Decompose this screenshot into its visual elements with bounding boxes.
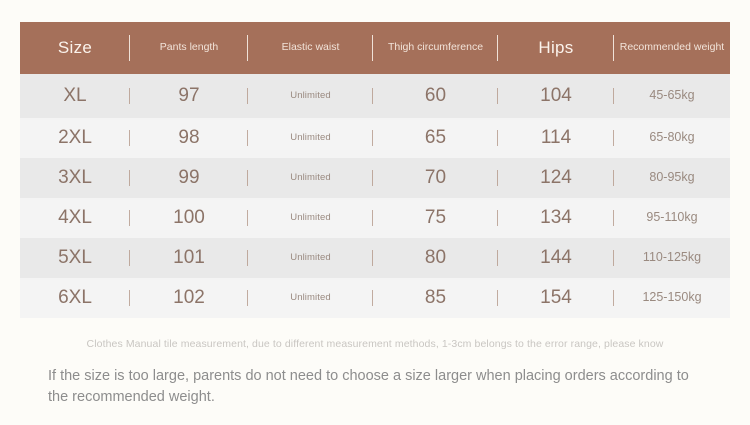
cell-thigh-circumference: 65 <box>373 118 498 158</box>
header-divider-icon <box>613 35 614 61</box>
cell-divider-icon <box>613 170 614 186</box>
cell-divider-icon <box>247 290 248 306</box>
cell-size-value: 4XL <box>58 207 92 228</box>
cell-recommended-weight-value: 95-110kg <box>646 210 697 224</box>
cell-thigh-circumference: 85 <box>373 278 498 318</box>
cell-divider-icon <box>129 170 130 186</box>
cell-divider-icon <box>247 250 248 266</box>
cell-pants-length: 97 <box>130 74 248 118</box>
table-row: 5XL 101 Unlimited 80 144 110-125kg <box>20 238 730 278</box>
cell-pants-length: 100 <box>130 198 248 238</box>
cell-divider-icon <box>372 250 373 266</box>
cell-pants-length-value: 100 <box>173 207 205 228</box>
cell-thigh-circumference-value: 80 <box>425 247 446 268</box>
cell-divider-icon <box>247 130 248 146</box>
cell-divider-icon <box>613 210 614 226</box>
cell-hips-value: 134 <box>540 207 572 228</box>
cell-pants-length-value: 102 <box>173 287 205 308</box>
cell-divider-icon <box>129 88 130 104</box>
cell-size: 6XL <box>20 278 130 318</box>
header-pants-length: Pants length <box>130 22 248 74</box>
cell-size: 2XL <box>20 118 130 158</box>
header-hips: Hips <box>498 22 614 74</box>
table-row: 2XL 98 Unlimited 65 114 65-80kg <box>20 118 730 158</box>
cell-hips-value: 144 <box>540 247 572 268</box>
cell-thigh-circumference-value: 75 <box>425 207 446 228</box>
cell-size-value: 5XL <box>58 247 92 268</box>
size-chart-page: Size Pants length Elastic waist Thigh ci… <box>0 0 750 425</box>
cell-elastic-waist-value: Unlimited <box>290 212 331 223</box>
size-chart-table: Size Pants length Elastic waist Thigh ci… <box>20 22 730 318</box>
cell-recommended-weight-value: 125-150kg <box>642 290 701 304</box>
cell-hips: 114 <box>498 118 614 158</box>
header-divider-icon <box>372 35 373 61</box>
header-elastic-waist-label: Elastic waist <box>282 41 340 53</box>
header-recommended-weight: Recommended weight <box>614 22 730 74</box>
cell-elastic-waist-value: Unlimited <box>290 172 331 183</box>
cell-hips: 144 <box>498 238 614 278</box>
header-thigh-circumference: Thigh circumference <box>373 22 498 74</box>
table-header-row: Size Pants length Elastic waist Thigh ci… <box>20 22 730 74</box>
cell-divider-icon <box>613 250 614 266</box>
cell-divider-icon <box>497 250 498 266</box>
cell-pants-length: 102 <box>130 278 248 318</box>
cell-recommended-weight-value: 65-80kg <box>649 130 694 144</box>
cell-thigh-circumference: 80 <box>373 238 498 278</box>
cell-elastic-waist: Unlimited <box>248 158 373 198</box>
table-body: XL 97 Unlimited 60 104 45-65kg 2XL 98 Un… <box>20 74 730 318</box>
cell-divider-icon <box>247 88 248 104</box>
header-divider-icon <box>129 35 130 61</box>
cell-elastic-waist-value: Unlimited <box>290 90 331 101</box>
header-elastic-waist: Elastic waist <box>248 22 373 74</box>
cell-divider-icon <box>129 250 130 266</box>
cell-hips-value: 104 <box>540 85 572 106</box>
cell-elastic-waist: Unlimited <box>248 198 373 238</box>
cell-recommended-weight: 95-110kg <box>614 198 730 238</box>
table-row: XL 97 Unlimited 60 104 45-65kg <box>20 74 730 118</box>
cell-pants-length: 99 <box>130 158 248 198</box>
cell-thigh-circumference: 70 <box>373 158 498 198</box>
cell-divider-icon <box>497 210 498 226</box>
cell-divider-icon <box>372 290 373 306</box>
sizing-advice-paragraph: If the size is too large, parents do not… <box>48 366 698 408</box>
cell-divider-icon <box>247 170 248 186</box>
cell-divider-icon <box>372 170 373 186</box>
cell-size-value: 6XL <box>58 287 92 308</box>
cell-elastic-waist: Unlimited <box>248 74 373 118</box>
cell-elastic-waist: Unlimited <box>248 238 373 278</box>
header-size-label: Size <box>58 38 92 57</box>
cell-recommended-weight: 125-150kg <box>614 278 730 318</box>
cell-recommended-weight: 110-125kg <box>614 238 730 278</box>
cell-pants-length-value: 101 <box>173 247 205 268</box>
table-row: 4XL 100 Unlimited 75 134 95-110kg <box>20 198 730 238</box>
cell-elastic-waist-value: Unlimited <box>290 252 331 263</box>
cell-hips-value: 124 <box>540 167 572 188</box>
cell-hips: 104 <box>498 74 614 118</box>
header-pants-length-label: Pants length <box>160 41 218 53</box>
table-row: 6XL 102 Unlimited 85 154 125-150kg <box>20 278 730 318</box>
cell-recommended-weight-value: 80-95kg <box>649 170 694 184</box>
cell-hips-value: 114 <box>541 127 571 148</box>
cell-recommended-weight: 80-95kg <box>614 158 730 198</box>
cell-size-value: 2XL <box>58 127 92 148</box>
cell-divider-icon <box>497 130 498 146</box>
cell-elastic-waist-value: Unlimited <box>290 292 331 303</box>
cell-divider-icon <box>129 130 130 146</box>
cell-thigh-circumference-value: 85 <box>425 287 446 308</box>
cell-pants-length-value: 98 <box>178 127 199 148</box>
cell-hips: 154 <box>498 278 614 318</box>
cell-divider-icon <box>613 130 614 146</box>
header-recommended-weight-label: Recommended weight <box>620 41 724 53</box>
cell-divider-icon <box>372 88 373 104</box>
cell-thigh-circumference: 60 <box>373 74 498 118</box>
cell-divider-icon <box>497 170 498 186</box>
cell-elastic-waist: Unlimited <box>248 118 373 158</box>
cell-recommended-weight: 65-80kg <box>614 118 730 158</box>
header-divider-icon <box>497 35 498 61</box>
cell-elastic-waist-value: Unlimited <box>290 132 331 143</box>
header-size: Size <box>20 22 130 74</box>
cell-pants-length: 101 <box>130 238 248 278</box>
cell-thigh-circumference-value: 60 <box>425 85 446 106</box>
cell-divider-icon <box>613 88 614 104</box>
cell-divider-icon <box>129 210 130 226</box>
cell-size: XL <box>20 74 130 118</box>
cell-size-value: 3XL <box>58 167 92 188</box>
cell-recommended-weight: 45-65kg <box>614 74 730 118</box>
cell-divider-icon <box>497 88 498 104</box>
cell-thigh-circumference-value: 65 <box>425 127 446 148</box>
cell-thigh-circumference-value: 70 <box>425 167 446 188</box>
cell-pants-length-value: 99 <box>178 167 199 188</box>
cell-pants-length-value: 97 <box>178 85 199 106</box>
cell-size: 5XL <box>20 238 130 278</box>
header-divider-icon <box>247 35 248 61</box>
cell-size: 3XL <box>20 158 130 198</box>
cell-divider-icon <box>247 210 248 226</box>
measurement-note: Clothes Manual tile measurement, due to … <box>0 338 750 350</box>
cell-recommended-weight-value: 110-125kg <box>643 250 701 264</box>
cell-divider-icon <box>372 210 373 226</box>
cell-pants-length: 98 <box>130 118 248 158</box>
cell-hips: 134 <box>498 198 614 238</box>
cell-divider-icon <box>129 290 130 306</box>
cell-divider-icon <box>613 290 614 306</box>
cell-thigh-circumference: 75 <box>373 198 498 238</box>
cell-recommended-weight-value: 45-65kg <box>649 88 694 102</box>
header-thigh-circumference-label: Thigh circumference <box>388 41 483 53</box>
cell-hips: 124 <box>498 158 614 198</box>
cell-elastic-waist: Unlimited <box>248 278 373 318</box>
cell-divider-icon <box>372 130 373 146</box>
cell-hips-value: 154 <box>540 287 572 308</box>
cell-size: 4XL <box>20 198 130 238</box>
header-hips-label: Hips <box>538 38 573 57</box>
cell-size-value: XL <box>63 85 86 106</box>
cell-divider-icon <box>497 290 498 306</box>
table-row: 3XL 99 Unlimited 70 124 80-95kg <box>20 158 730 198</box>
